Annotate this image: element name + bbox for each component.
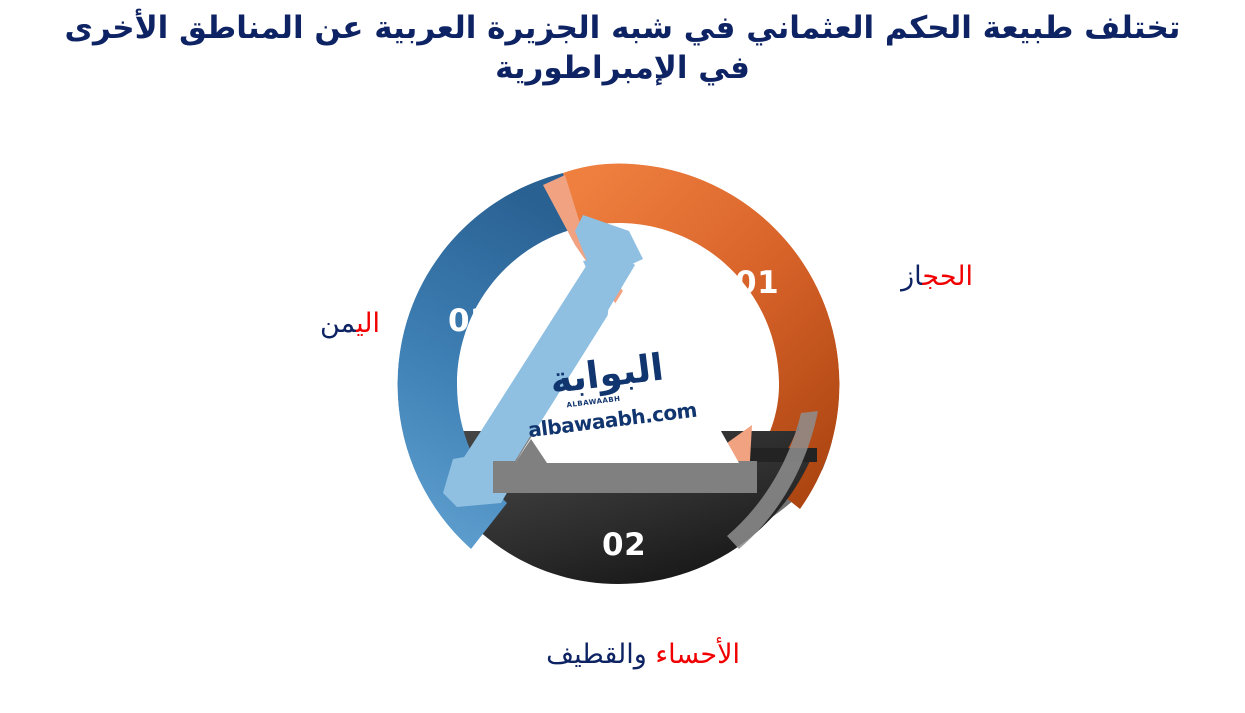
segment-02-label: الأحساء والقطيف xyxy=(546,639,740,670)
segment-01-label-rest: از xyxy=(901,261,922,292)
infographic-diagram: 01 02 03 البوابة ALBAWAABH albawaabh.com… xyxy=(0,0,1245,713)
segment-03-label-rest: من xyxy=(320,308,356,339)
segment-03-label: اليمن xyxy=(320,308,380,339)
segment-02-number: 02 xyxy=(602,527,646,563)
segment-03-label-highlight: الي xyxy=(356,308,380,339)
segment-02-label-rest: والقطيف xyxy=(546,639,655,670)
segment-02-label-highlight: الأحساء xyxy=(655,639,740,670)
segment-01-number: 01 xyxy=(735,265,779,301)
segment-01-label: الحجاز xyxy=(901,261,973,292)
segment-01-label-highlight: الحج xyxy=(922,261,973,292)
segment-03-number: 03 xyxy=(448,303,492,339)
